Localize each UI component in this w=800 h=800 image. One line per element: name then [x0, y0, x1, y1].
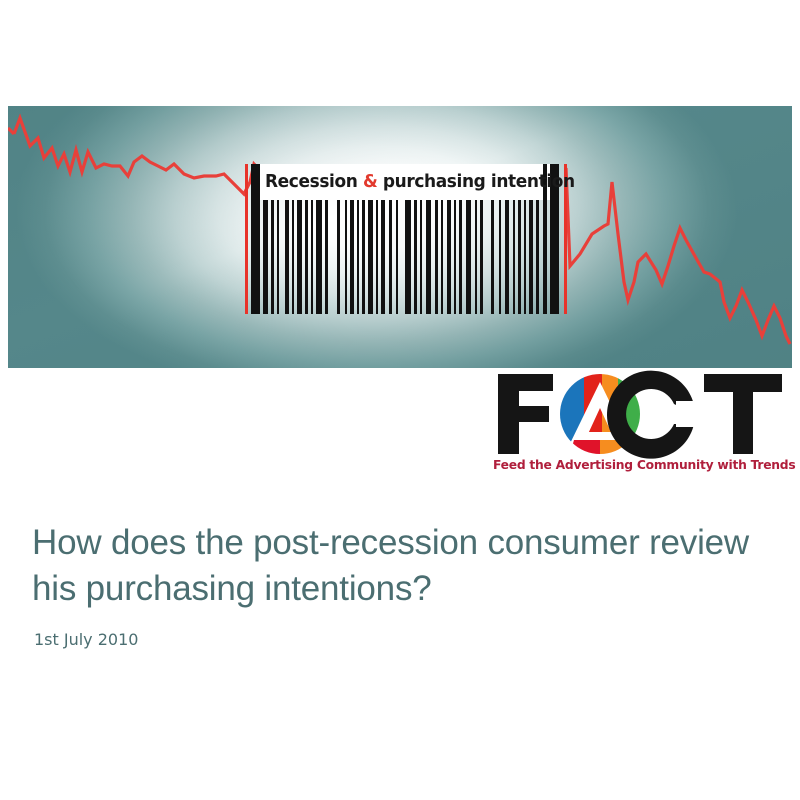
logo-letter-t — [704, 374, 782, 454]
barcode-graphic: Recession & purchasing intention — [245, 164, 567, 314]
barcode-bar — [499, 200, 501, 314]
barcode-bar — [381, 200, 385, 314]
barcode-bar — [435, 200, 438, 314]
barcode-bar — [311, 200, 313, 314]
barcode-bar — [297, 200, 302, 314]
barcode-bar — [420, 200, 422, 314]
fact-wordmark-graphic — [490, 368, 790, 460]
page-title: How does the post-recession consumer rev… — [32, 520, 752, 612]
trend-line-right — [566, 168, 790, 344]
barcode-heading-text: Recession & purchasing intention — [265, 166, 533, 198]
barcode-bar — [285, 200, 289, 314]
barcode-bar — [447, 200, 451, 314]
title-block: How does the post-recession consumer rev… — [32, 520, 772, 649]
logo-letter-f — [498, 374, 553, 454]
barcode-heading-text-part2: purchasing intention — [377, 172, 574, 192]
barcode-bar — [454, 200, 456, 314]
barcode-bar — [441, 200, 443, 314]
fact-logo: Feed the Advertising Community with Tren… — [490, 368, 790, 484]
trend-line-left — [14, 118, 258, 194]
barcode-guard-bar-left — [251, 164, 260, 314]
barcode-heading-ampersand: & — [363, 172, 377, 192]
barcode-bar — [466, 200, 471, 314]
recession-banner-image: Recession & purchasing intention — [8, 106, 792, 368]
barcode-bar — [459, 200, 462, 314]
barcode-bar — [475, 200, 477, 314]
fact-tagline: Feed the Advertising Community with Tren… — [493, 458, 790, 472]
barcode-bar — [362, 200, 365, 314]
barcode-rail-left — [245, 164, 248, 314]
barcode-bar — [426, 200, 431, 314]
barcode-bar — [350, 200, 354, 314]
barcode-bar — [529, 200, 533, 314]
barcode-bar — [277, 200, 279, 314]
barcode-bar — [491, 200, 494, 314]
barcode-bar — [396, 200, 398, 314]
barcode-bar — [305, 200, 308, 314]
barcode-bar — [480, 200, 483, 314]
logo-letter-c-mouth — [676, 401, 704, 427]
barcode-bars — [263, 200, 543, 314]
barcode-bar — [513, 200, 515, 314]
barcode-bar — [536, 200, 539, 314]
barcode-bar — [292, 200, 294, 314]
barcode-bar — [524, 200, 526, 314]
barcode-bar — [337, 200, 340, 314]
barcode-bar — [405, 200, 411, 314]
barcode-bar — [345, 200, 347, 314]
slide-date: 1st July 2010 — [34, 630, 772, 649]
barcode-bar — [316, 200, 322, 314]
barcode-heading-text-part1: Recession — [265, 172, 363, 192]
trend-line-left-edge-tick — [8, 128, 14, 134]
barcode-bar — [518, 200, 521, 314]
barcode-bar — [263, 200, 268, 314]
barcode-bar — [271, 200, 274, 314]
barcode-bar — [389, 200, 392, 314]
barcode-bar — [376, 200, 378, 314]
barcode-bar — [325, 200, 328, 314]
barcode-bar — [368, 200, 373, 314]
barcode-bar — [505, 200, 509, 314]
barcode-bar — [357, 200, 359, 314]
barcode-bar — [414, 200, 417, 314]
